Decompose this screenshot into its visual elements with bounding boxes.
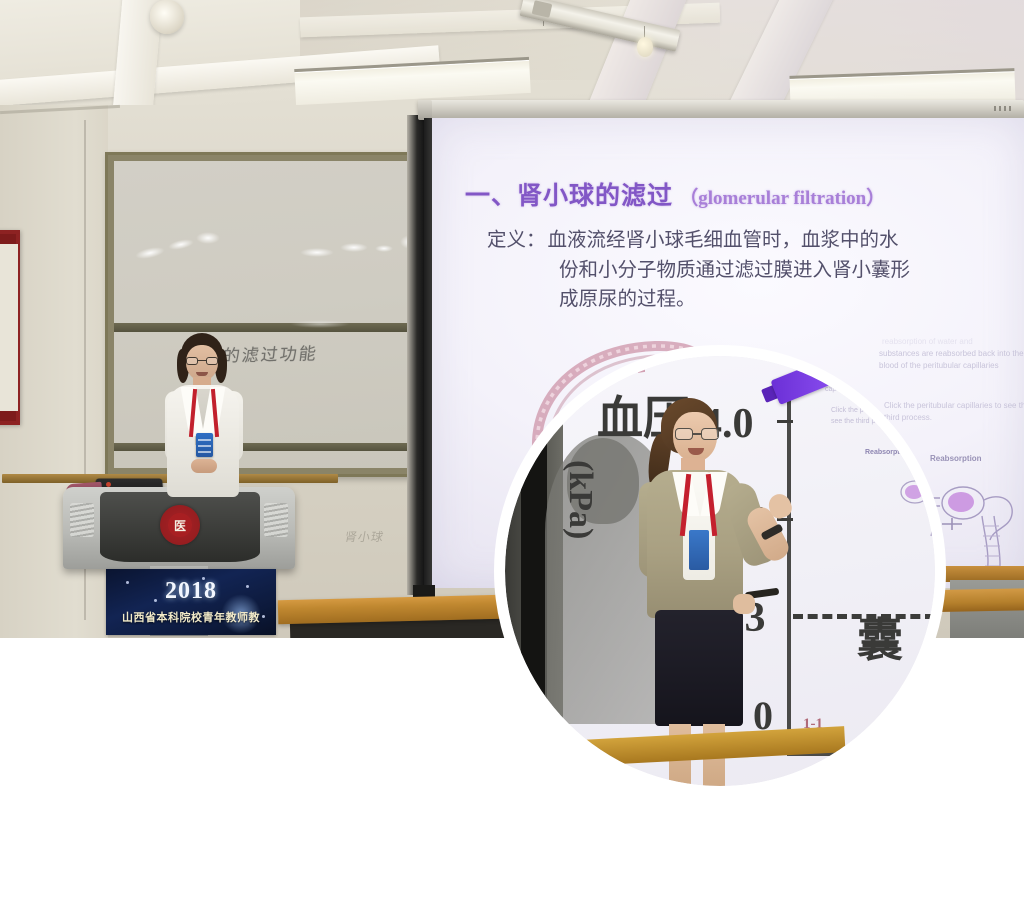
inset-presenter: [633, 398, 783, 770]
podium-vent-left: [70, 503, 94, 537]
inset-clip: substances are reabsorbed back into the …: [505, 356, 935, 786]
slide-faded-note-3: Reabsorption: [930, 453, 982, 465]
slide-title-english: （glomerular filtration）: [679, 188, 885, 209]
chart-y-axis: [787, 384, 791, 754]
whiteboard-divider-upper: [114, 323, 426, 332]
event-banner: 2018 山西省本科院校青年教师教: [106, 569, 276, 635]
whiteboard-glare: [290, 320, 350, 328]
screen-housing-endcap: [418, 100, 432, 120]
slide-title-cjk: 一、肾小球的滤过: [465, 183, 673, 210]
slide-body-line1: 血液流经肾小球毛细血管时，血浆中的水: [548, 230, 899, 251]
whiteboard-faint-writing: 肾小球: [344, 528, 386, 545]
dome-light-icon: [150, 0, 184, 34]
university-emblem-text: 医: [168, 513, 192, 537]
circular-inset-photo: substances are reabsorbed back into the …: [494, 345, 946, 797]
slide-title: 一、肾小球的滤过 （glomerular filtration）: [465, 176, 885, 212]
presenter-hand-left: [733, 594, 755, 614]
glasses-icon: [186, 357, 218, 365]
projector-screen-housing: [418, 100, 1024, 118]
banner-year: 2018: [106, 578, 276, 605]
slide-faded-note-0: reabsorption of water and: [882, 336, 1024, 348]
slide-body: 定义：血液流经肾小球毛细血管时，血浆中的水 份和小分子物质通过滤过膜进入肾小囊形…: [487, 226, 992, 315]
whiteboard-glare: [300, 248, 334, 257]
presenter-at-podium: [155, 333, 250, 498]
glasses-icon: [673, 428, 719, 440]
presenter-skirt: [655, 610, 743, 726]
banner-subtitle: 山西省本科院校青年教师教: [106, 609, 276, 625]
presenter-hands: [191, 459, 217, 473]
wall-poster-frame: [0, 230, 20, 425]
whiteboard-glare: [340, 243, 368, 252]
screen-side-gap: [407, 115, 425, 595]
slide-body-line2: 份和小分子物质通过滤过膜进入肾小囊形: [487, 256, 992, 286]
podium-vent-right: [264, 503, 288, 537]
id-badge: [689, 530, 709, 570]
chart-axis-unit: (kPa): [561, 460, 599, 539]
slide-body-label: 定义：: [487, 230, 546, 251]
chart-bottom-label-cjk: 囊: [857, 604, 903, 670]
whiteboard-glare: [196, 232, 220, 244]
screenshot-root: 小球的滤过功能 肾小球 一、肾小球的滤过 （glomerular filtrat…: [0, 0, 1024, 910]
hanging-bulb-icon: [637, 37, 653, 57]
screen-housing-vents: [994, 106, 1014, 111]
slide-body-line3: 成原尿的过程。: [487, 285, 992, 315]
wall-poster-inner: [0, 244, 18, 411]
whiteboard-glare: [375, 245, 393, 252]
